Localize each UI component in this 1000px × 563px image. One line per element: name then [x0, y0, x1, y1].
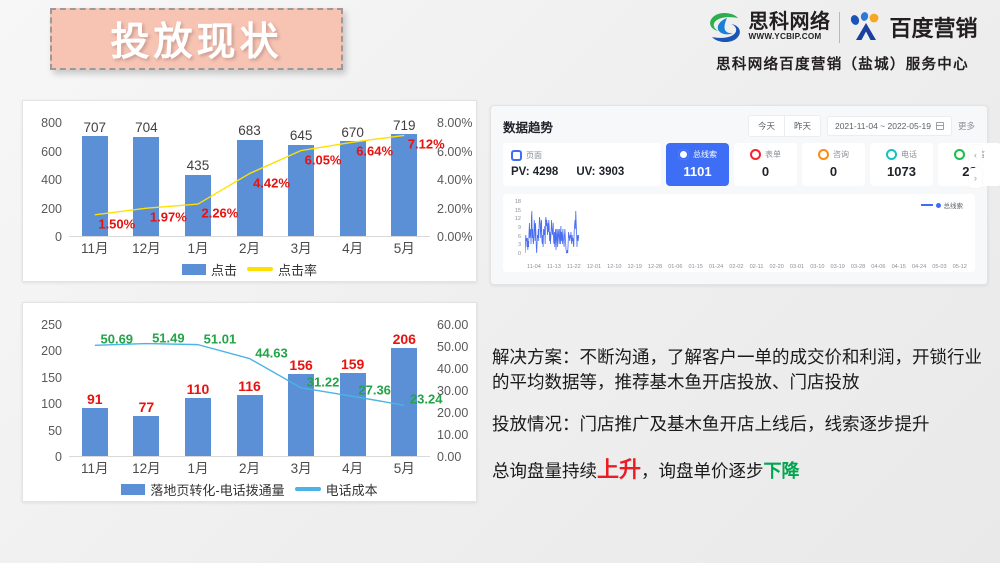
line-value-label: 6.64% — [356, 144, 393, 159]
card-value: PV: 4298 — [511, 166, 558, 178]
legend-label: 点击率 — [278, 260, 317, 279]
trend-x-tick: 02-02 — [729, 264, 743, 270]
solution-label: 解决方案： — [492, 347, 580, 367]
sike-swirl-icon — [707, 11, 743, 44]
card-name: 表单 — [765, 149, 781, 160]
calendar-icon — [936, 122, 944, 130]
clicks-chart-plot: 707704435683645670719 1.50%1.97%2.26%4.4… — [69, 123, 430, 237]
trend-y-tick: 0 — [518, 251, 521, 257]
y2-tick: 0.00% — [432, 231, 476, 244]
trend-y-tick: 6 — [518, 234, 521, 240]
trend-chart-panel: 总线索 1815129630 11-0411-1311-2212-0112-10… — [503, 194, 975, 272]
summary-paragraph: 总询盘量持续上升，询盘单价逐步下降 — [492, 454, 992, 485]
x-tick-label: 12月 — [121, 237, 173, 257]
card-value: 0 — [830, 164, 837, 179]
clicks-chart-legend: 点击点击率 — [23, 259, 476, 279]
x-tick-label: 1月 — [172, 457, 224, 477]
trend-x-tick: 01-15 — [689, 264, 703, 270]
trend-x-tick: 03-10 — [810, 264, 824, 270]
trend-y-tick: 9 — [518, 225, 521, 231]
card-values: PV: 4298UV: 3903 — [511, 166, 653, 178]
metric-card-页面[interactable]: 页面PV: 4298UV: 3903 — [503, 143, 661, 186]
x-tick-label: 5月 — [378, 457, 430, 477]
line-value-label: 51.49 — [152, 330, 185, 345]
card-icon-咨询 — [818, 149, 829, 160]
sike-logo: 思科网络 WWW.YCBIP.COM — [707, 11, 830, 44]
metric-card-表单[interactable]: 表单0 — [734, 143, 797, 186]
y2-tick: 20.00 — [432, 407, 476, 420]
y-tick: 200 — [23, 202, 67, 215]
trend-y-tick: 3 — [518, 242, 521, 248]
trend-x-tick: 12-28 — [648, 264, 662, 270]
metric-card-list: 页面PV: 4298UV: 3903总线索1101表单0咨询0电话1073微信2… — [491, 141, 987, 194]
date-range-picker[interactable]: 2021-11-04 ~ 2022-05-19 — [827, 116, 952, 136]
y2-tick: 60.00 — [432, 319, 476, 332]
legend-line-swatch — [247, 267, 273, 271]
line-value-label: 51.01 — [204, 331, 237, 346]
trend-x-tick: 02-11 — [750, 264, 764, 270]
metric-card-电话[interactable]: 电话1073 — [870, 143, 933, 186]
x-tick-label: 5月 — [378, 237, 430, 257]
y2-tick: 50.00 — [432, 341, 476, 354]
trend-x-tick: 01-06 — [668, 264, 682, 270]
x-tick-label: 4月 — [327, 237, 379, 257]
x-tick-label: 1月 — [172, 237, 224, 257]
trend-x-tick: 02-20 — [770, 264, 784, 270]
x-tick-label: 3月 — [275, 457, 327, 477]
line-value-label: 27.36 — [358, 383, 391, 398]
card-icon-总线索 — [678, 149, 689, 160]
x-tick-label: 12月 — [121, 457, 173, 477]
trend-legend-line-icon — [921, 204, 933, 206]
trend-x-tick: 04-24 — [912, 264, 926, 270]
y2-tick: 8.00% — [432, 117, 476, 130]
card-icon-表单 — [750, 149, 761, 160]
line-value-label: 50.69 — [101, 332, 134, 347]
line-value-label: 6.05% — [305, 152, 342, 167]
y2-tick: 10.00 — [432, 429, 476, 442]
line-value-label: 31.22 — [307, 374, 340, 389]
card-name: 电话 — [901, 149, 917, 160]
x-tick-label: 4月 — [327, 457, 379, 477]
more-link[interactable]: 更多 — [958, 120, 975, 132]
legend-label: 落地页转化-电话拨通量 — [150, 480, 284, 499]
conversion-chart-x-labels: 11月12月1月2月3月4月5月 — [69, 457, 430, 477]
line-value-label: 23.24 — [410, 392, 443, 407]
trend-x-tick: 04-15 — [892, 264, 906, 270]
metric-card-总线索[interactable]: 总线索1101 — [666, 143, 729, 186]
x-tick-label: 2月 — [224, 457, 276, 477]
baidu-brand-cn: 百度营销 — [889, 11, 977, 43]
dashboard-header: 数据趋势 今天 昨天 2021-11-04 ~ 2022-05-19 更多 — [491, 106, 987, 141]
trend-y-tick: 18 — [515, 199, 521, 205]
dashboard-title: 数据趋势 — [503, 117, 553, 136]
trend-chart-line — [525, 202, 579, 256]
card-value: 1073 — [887, 164, 916, 179]
card-value: 1101 — [683, 164, 711, 179]
card-value: UV: 3903 — [576, 166, 624, 178]
x-tick-label: 11月 — [69, 237, 121, 257]
data-trend-dashboard: 数据趋势 今天 昨天 2021-11-04 ~ 2022-05-19 更多 页面… — [490, 105, 988, 285]
trend-x-tick: 05-03 — [932, 264, 946, 270]
y2-tick: 2.00% — [432, 202, 476, 215]
trend-x-tick: 12-01 — [587, 264, 601, 270]
summary-up-highlight: 上升 — [597, 457, 641, 482]
summary-pre: 总询盘量持续 — [492, 461, 597, 481]
x-tick-label: 3月 — [275, 237, 327, 257]
clicks-chart: 0200400600800 0.00%2.00%4.00%6.00%8.00% … — [23, 101, 476, 281]
date-quick-select[interactable]: 今天 昨天 — [748, 115, 821, 137]
status-text: 门店推广及基木鱼开店上线后，线索逐步提升 — [580, 414, 930, 434]
logo-divider — [839, 12, 840, 43]
legend-label: 点击 — [211, 260, 237, 279]
y-tick: 0 — [23, 451, 67, 464]
y2-tick: 4.00% — [432, 174, 476, 187]
card-value: 0 — [762, 164, 769, 179]
trend-x-tick: 05-12 — [953, 264, 967, 270]
line-value-label: 44.63 — [255, 345, 288, 360]
status-label: 投放情况： — [492, 414, 580, 434]
baidu-paw-icon — [849, 12, 883, 42]
conversion-chart-panel: 050100150200250 0.0010.0020.0030.0040.00… — [22, 302, 477, 502]
line-value-label: 4.42% — [253, 175, 290, 190]
today-button[interactable]: 今天 — [749, 116, 784, 136]
card-head: 总线索 — [678, 149, 717, 160]
line-value-label: 1.50% — [98, 216, 135, 231]
conversion-chart: 050100150200250 0.0010.0020.0030.0040.00… — [23, 303, 476, 501]
conversion-chart-legend: 落地页转化-电话拨通量电话成本 — [23, 479, 476, 499]
sike-brand-url: WWW.YCBIP.COM — [748, 33, 830, 41]
conversion-chart-plot: 9177110116156159206 50.6951.4951.0144.63… — [69, 325, 430, 457]
trend-legend-label: 总线索 — [944, 200, 964, 210]
metric-card-咨询[interactable]: 咨询0 — [802, 143, 865, 186]
card-carousel-nav[interactable]: ‹ › — [969, 145, 982, 188]
trend-x-tick: 04-06 — [871, 264, 885, 270]
trend-x-tick: 03-01 — [790, 264, 804, 270]
legend-label: 电话成本 — [326, 480, 378, 499]
summary-down-highlight: 下降 — [764, 461, 800, 481]
card-head: 页面 — [511, 150, 653, 161]
y-tick: 600 — [23, 145, 67, 158]
trend-chart-x-axis: 11-0411-1311-2212-0112-1012-1912-2801-06… — [527, 264, 967, 270]
legend-item-bar[interactable]: 点击 — [182, 260, 237, 279]
trend-x-tick: 03-19 — [831, 264, 845, 270]
trend-chart-y-axis: 1815129630 — [509, 202, 521, 254]
notes-block: 解决方案：不断沟通，了解客户一单的成交价和利润，开锁行业的平均数据等，推荐基木鱼… — [492, 345, 992, 502]
trend-chart-legend[interactable]: 总线索 — [921, 200, 964, 210]
trend-x-tick: 11-22 — [567, 264, 581, 270]
status-paragraph: 投放情况：门店推广及基木鱼开店上线后，线索逐步提升 — [492, 412, 992, 437]
legend-item-bar[interactable]: 落地页转化-电话拨通量 — [121, 480, 284, 499]
y2-tick: 40.00 — [432, 363, 476, 376]
legend-bar-swatch — [182, 264, 206, 275]
card-icon-微信 — [954, 149, 965, 160]
trend-y-tick: 15 — [515, 208, 521, 214]
line-value-label: 7.12% — [408, 137, 445, 152]
y-tick: 50 — [23, 424, 67, 437]
trend-x-tick: 12-10 — [607, 264, 621, 270]
y-tick: 100 — [23, 398, 67, 411]
y-tick: 0 — [23, 231, 67, 244]
baidu-logo: 百度营销 — [849, 11, 977, 43]
legend-item-line[interactable]: 电话成本 — [295, 480, 378, 499]
x-tick-label: 2月 — [224, 237, 276, 257]
logo-subtitle: 思科网络百度营销（盐城）服务中心 — [690, 53, 995, 74]
card-icon-页面 — [511, 150, 522, 161]
y-tick: 800 — [23, 117, 67, 130]
trend-x-tick: 11-04 — [527, 264, 541, 270]
y-tick: 250 — [23, 319, 67, 332]
slide-title-box: 投放现状 — [50, 8, 343, 70]
conversion-chart-left-axis: 050100150200250 — [23, 325, 67, 457]
trend-y-tick: 12 — [515, 216, 521, 222]
legend-bar-swatch — [121, 484, 145, 495]
trend-x-tick: 11-13 — [547, 264, 561, 270]
card-name: 总线索 — [693, 149, 717, 160]
legend-item-line[interactable]: 点击率 — [247, 260, 317, 279]
line-value-label: 1.97% — [150, 210, 187, 225]
card-head: 表单 — [750, 149, 781, 160]
legend-line-swatch — [295, 487, 321, 491]
card-name: 咨询 — [833, 149, 849, 160]
clicks-chart-x-labels: 11月12月1月2月3月4月5月 — [69, 237, 430, 257]
carousel-prev-icon[interactable]: ‹ — [969, 145, 982, 165]
x-tick-label: 11月 — [69, 457, 121, 477]
solution-paragraph: 解决方案：不断沟通，了解客户一单的成交价和利润，开锁行业的平均数据等，推荐基木鱼… — [492, 345, 992, 395]
trend-x-tick: 03-28 — [851, 264, 865, 270]
line-value-label: 2.26% — [201, 206, 238, 221]
summary-mid: ，询盘单价逐步 — [641, 461, 764, 481]
dashboard-controls: 今天 昨天 2021-11-04 ~ 2022-05-19 更多 — [748, 115, 975, 137]
trend-legend-dot-icon — [936, 203, 941, 208]
yesterday-button[interactable]: 昨天 — [784, 116, 820, 136]
date-range-value: 2021-11-04 ~ 2022-05-19 — [835, 121, 931, 131]
card-head: 咨询 — [818, 149, 849, 160]
y-tick: 200 — [23, 345, 67, 358]
card-head: 电话 — [886, 149, 917, 160]
trend-x-tick: 01-24 — [709, 264, 723, 270]
brand-logo-group: 思科网络 WWW.YCBIP.COM 百度营销 思科网络百度营销（盐城）服务中心 — [690, 4, 995, 80]
carousel-next-icon[interactable]: › — [969, 168, 982, 188]
sike-brand-cn: 思科网络 — [748, 12, 830, 32]
page-title: 投放现状 — [110, 11, 282, 67]
y2-tick: 0.00 — [432, 451, 476, 464]
clicks-chart-panel: 0200400600800 0.00%2.00%4.00%6.00%8.00% … — [22, 100, 477, 282]
y-tick: 400 — [23, 174, 67, 187]
card-name: 页面 — [526, 150, 542, 161]
clicks-chart-left-axis: 0200400600800 — [23, 123, 67, 237]
y-tick: 150 — [23, 372, 67, 385]
trend-x-tick: 12-19 — [628, 264, 642, 270]
card-icon-电话 — [886, 149, 897, 160]
